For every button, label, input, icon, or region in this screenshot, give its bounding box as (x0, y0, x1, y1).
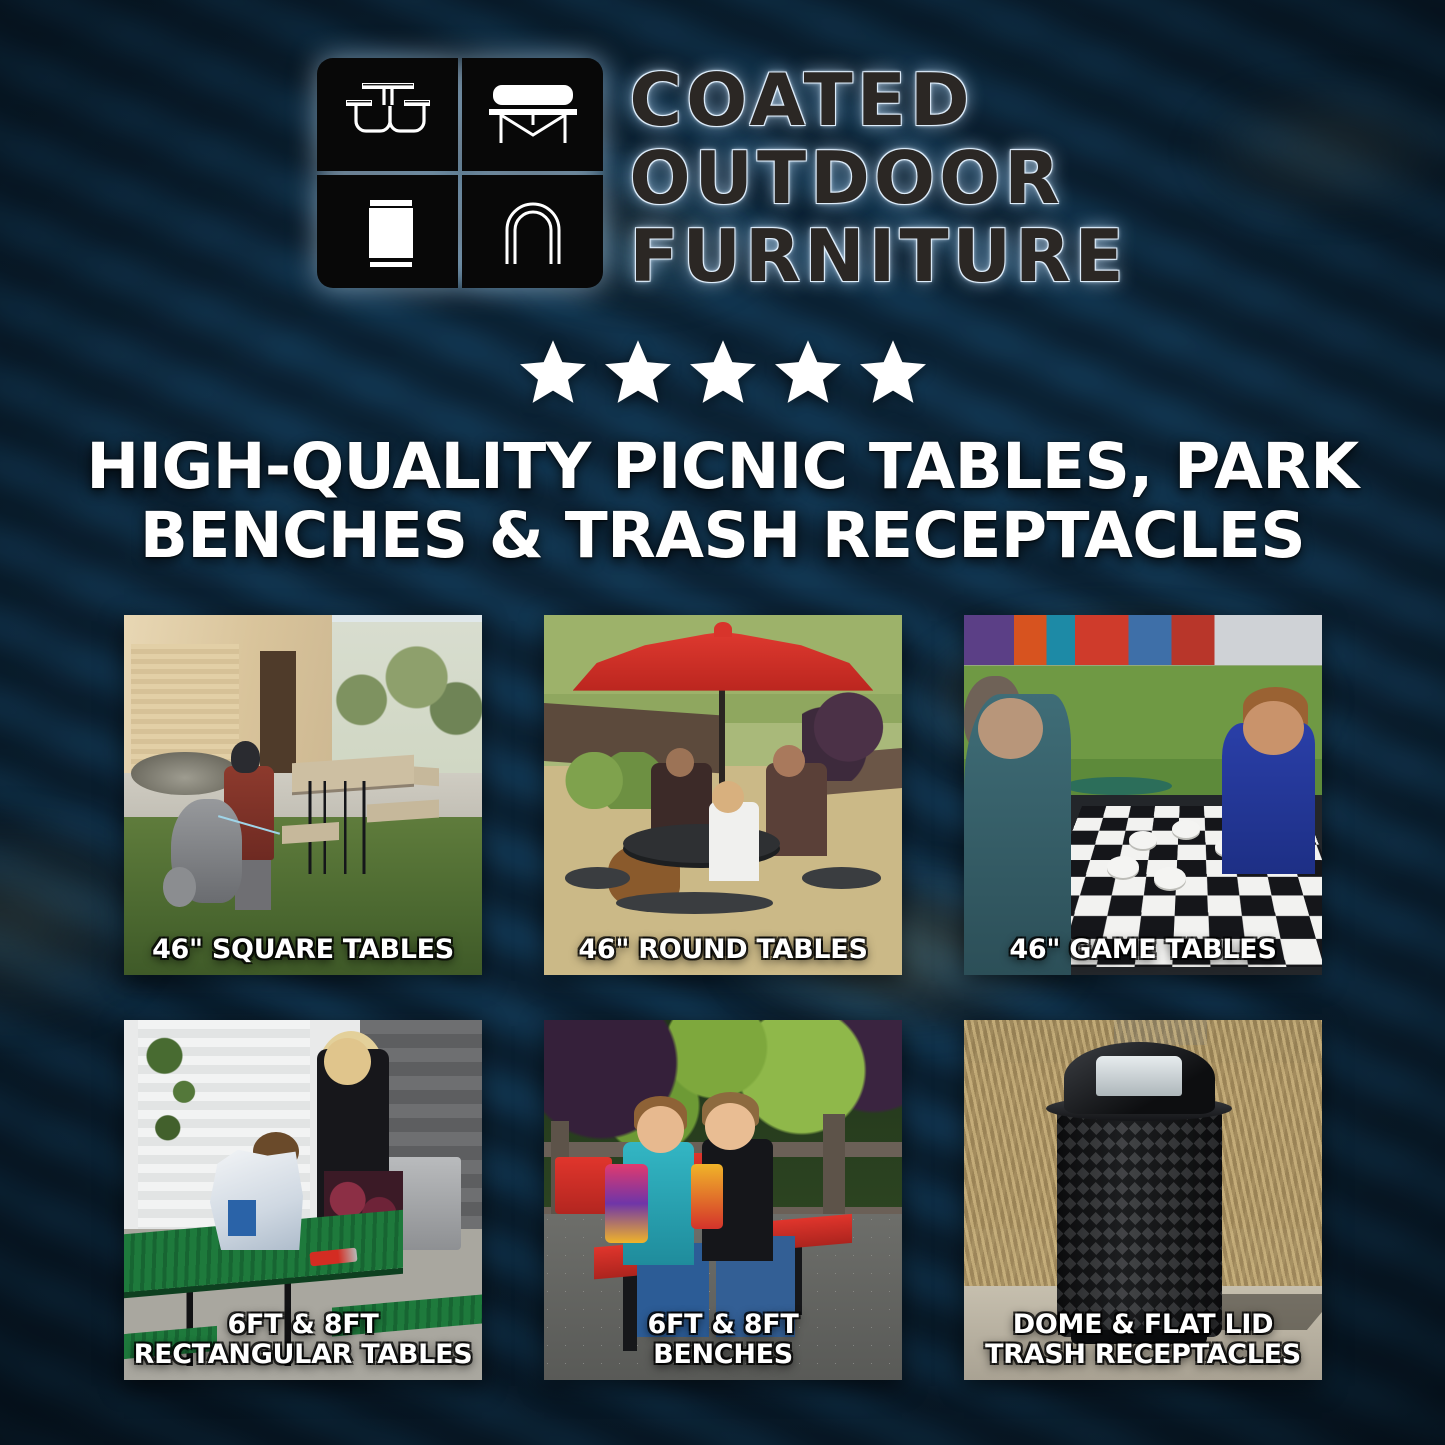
product-photo-square-tables (124, 615, 482, 975)
star-icon (856, 336, 930, 408)
product-caption: DOME & FLAT LID TRASH RECEPTACLES (964, 1310, 1322, 1370)
star-icon (771, 336, 845, 408)
picnic-table-icon (317, 58, 458, 171)
product-caption: 46" ROUND TABLES (544, 935, 902, 965)
brand-wordmark: COATED OUTDOOR FURNITURE (629, 58, 1127, 294)
wordmark-line-3: FURNITURE (629, 218, 1127, 294)
headline-line-2: BENCHES & TRASH RECEPTACLES (0, 501, 1445, 570)
product-caption: 6FT & 8FT RECTANGULAR TABLES (124, 1310, 482, 1370)
product-photo-round-tables (544, 615, 902, 975)
brand-logo: COATED OUTDOOR FURNITURE (0, 58, 1445, 294)
product-card-trash-receptacles[interactable]: DOME & FLAT LID TRASH RECEPTACLES (964, 1020, 1322, 1380)
product-card-game-tables[interactable]: 46" GAME TABLES (964, 615, 1322, 975)
star-icon (516, 336, 590, 408)
star-rating (0, 336, 1445, 408)
bike-rack-arch-icon (462, 175, 603, 288)
caption-line-1: 46" GAME TABLES (964, 935, 1322, 965)
star-icon (686, 336, 760, 408)
trash-receptacle-icon (317, 175, 458, 288)
product-card-square-tables[interactable]: 46" SQUARE TABLES (124, 615, 482, 975)
product-caption: 46" SQUARE TABLES (124, 935, 482, 965)
caption-line-1: 6FT & 8FT (124, 1310, 482, 1340)
poster-content: COATED OUTDOOR FURNITURE HIGH-QUALITY PI… (0, 0, 1445, 1445)
caption-line-1: DOME & FLAT LID (964, 1310, 1322, 1340)
caption-line-2: TRASH RECEPTACLES (964, 1340, 1322, 1370)
caption-line-2: RECTANGULAR TABLES (124, 1340, 482, 1370)
caption-line-1: 46" SQUARE TABLES (124, 935, 482, 965)
product-photo-game-tables (964, 615, 1322, 975)
caption-line-2: BENCHES (544, 1340, 902, 1370)
page-headline: HIGH-QUALITY PICNIC TABLES, PARK BENCHES… (0, 432, 1445, 570)
product-card-rectangular-tables[interactable]: 6FT & 8FT RECTANGULAR TABLES (124, 1020, 482, 1380)
caption-line-1: 46" ROUND TABLES (544, 935, 902, 965)
product-caption: 6FT & 8FT BENCHES (544, 1310, 902, 1370)
wordmark-line-1: COATED (629, 62, 1127, 138)
headline-line-1: HIGH-QUALITY PICNIC TABLES, PARK (0, 432, 1445, 501)
product-card-benches[interactable]: 6FT & 8FT BENCHES (544, 1020, 902, 1380)
caption-line-1: 6FT & 8FT (544, 1310, 902, 1340)
product-category-grid: 46" SQUARE TABLES (124, 615, 1322, 1380)
product-card-round-tables[interactable]: 46" ROUND TABLES (544, 615, 902, 975)
logo-icon-grid (317, 58, 603, 288)
product-caption: 46" GAME TABLES (964, 935, 1322, 965)
bench-table-icon (462, 58, 603, 171)
promotional-poster: COATED OUTDOOR FURNITURE HIGH-QUALITY PI… (0, 0, 1445, 1445)
wordmark-line-2: OUTDOOR (629, 140, 1127, 216)
star-icon (601, 336, 675, 408)
